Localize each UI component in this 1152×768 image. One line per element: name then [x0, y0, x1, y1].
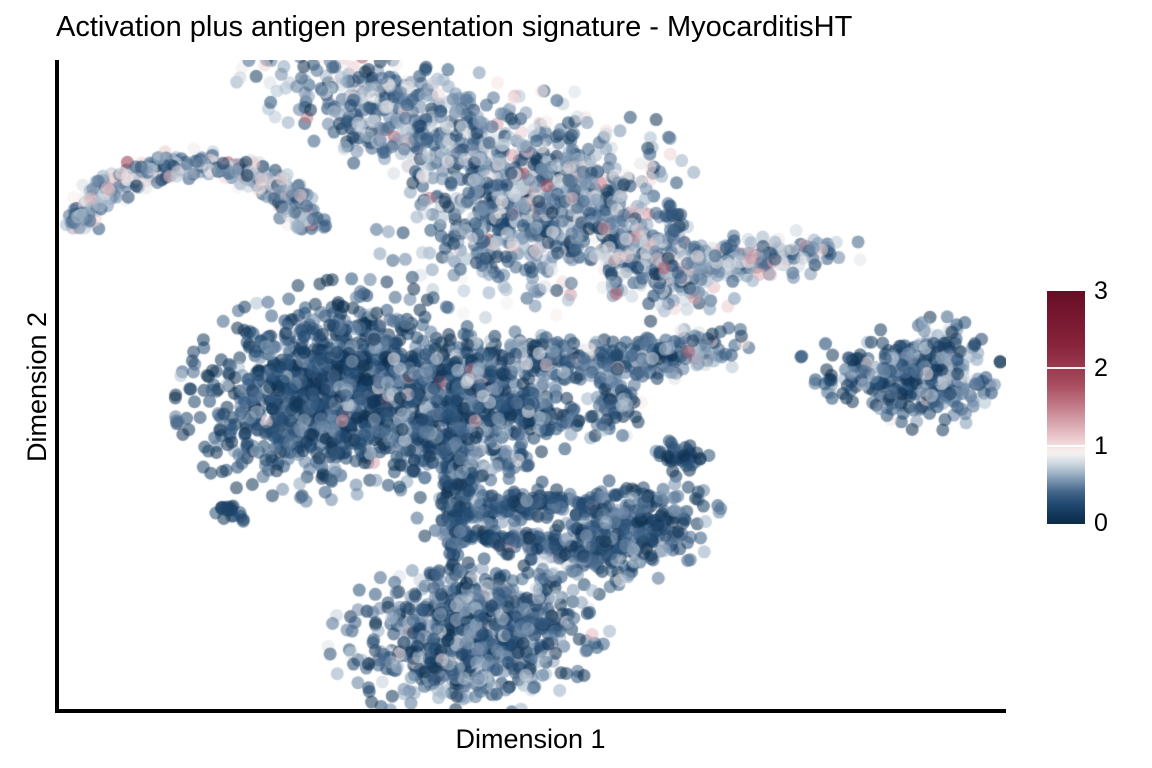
scatter-points-canvas[interactable]	[59, 60, 1006, 709]
page-title: Activation plus antigen presentation sig…	[56, 8, 1116, 52]
color-legend[interactable]: 3210	[1040, 280, 1152, 540]
y-axis-line	[55, 60, 59, 713]
colorbar-tick-mark	[1047, 445, 1085, 447]
colorbar-tick-label: 3	[1094, 279, 1134, 304]
scatter-plot-figure: Activation plus antigen presentation sig…	[0, 0, 1152, 768]
x-axis-line	[55, 709, 1006, 713]
plot-panel[interactable]	[59, 60, 1006, 709]
colorbar-tick-mark	[1047, 367, 1085, 369]
colorbar-tick-label: 1	[1094, 434, 1134, 459]
colorbar-gradient	[1047, 291, 1085, 524]
colorbar-tick-label: 2	[1094, 356, 1134, 381]
colorbar-tick-label: 0	[1094, 511, 1134, 536]
x-axis-label: Dimension 1	[55, 722, 1006, 756]
y-axis-label: Dimension 2	[20, 57, 54, 717]
